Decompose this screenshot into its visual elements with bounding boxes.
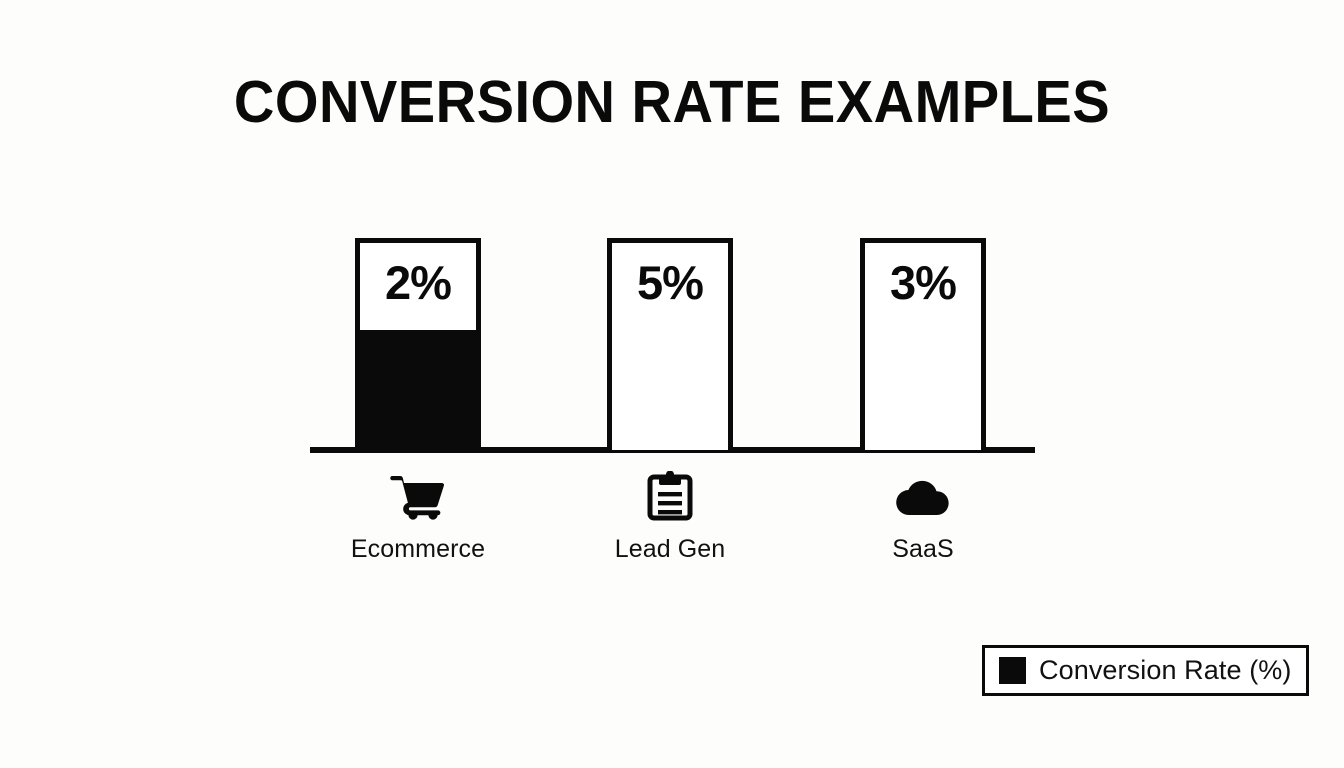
bar-lead-gen[interactable]: 5% (607, 238, 733, 450)
bar-fill-ecommerce (355, 330, 481, 450)
bar-value-ecommerce: 2% (360, 255, 476, 310)
category-label-ecommerce: Ecommerce (318, 535, 518, 564)
legend-swatch-conversion-rate (999, 657, 1026, 684)
category-lead-gen: Lead Gen (570, 470, 770, 564)
bar-value-lead-gen: 5% (612, 255, 728, 310)
chart-canvas: CONVERSION RATE EXAMPLES 2% 5% 3% (0, 0, 1344, 768)
bar-value-saas: 3% (865, 255, 981, 310)
clipboard-icon (570, 470, 770, 522)
chart-legend: Conversion Rate (%) (982, 645, 1309, 696)
bar-saas[interactable]: 3% (860, 238, 986, 450)
bar-group-saas: 3% (860, 238, 986, 450)
legend-label-conversion-rate: Conversion Rate (%) (1039, 655, 1292, 686)
cloud-icon (823, 470, 1023, 522)
category-saas: SaaS (823, 470, 1023, 564)
bar-ecommerce[interactable]: 2% (355, 238, 481, 450)
bar-group-ecommerce: 2% (355, 238, 481, 450)
category-label-saas: SaaS (823, 535, 1023, 564)
shopping-cart-icon (318, 470, 518, 522)
category-ecommerce: Ecommerce (318, 470, 518, 564)
category-label-lead-gen: Lead Gen (570, 535, 770, 564)
bar-group-lead-gen: 5% (607, 238, 733, 450)
